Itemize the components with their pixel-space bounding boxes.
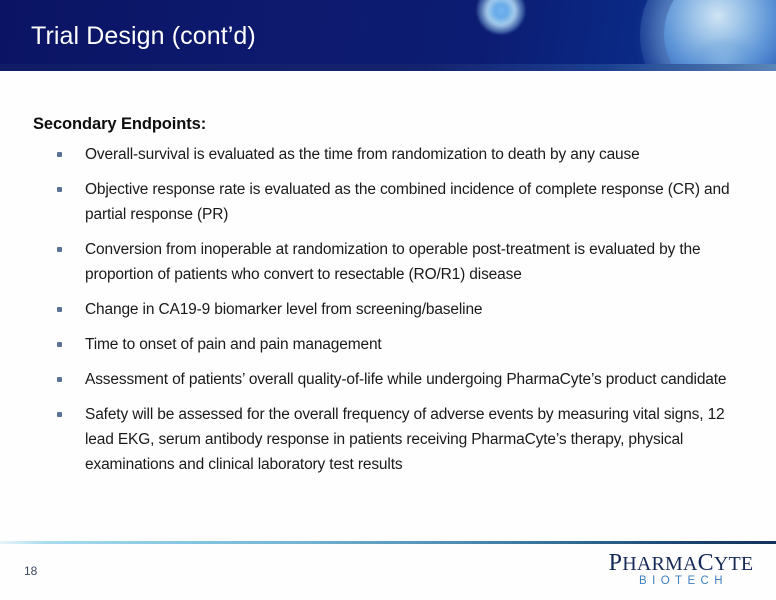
bullet-dot-icon	[57, 187, 62, 192]
list-item-text: Objective response rate is evaluated as …	[85, 181, 729, 223]
section-heading: Secondary Endpoints:	[33, 115, 206, 134]
logo-text-harma: HARMA	[622, 553, 697, 575]
secondary-endpoints-list: Overall-survival is evaluated as the tim…	[33, 142, 755, 477]
list-item: Time to onset of pain and pain managemen…	[33, 332, 755, 357]
logo-wordmark: PHARMACYTE	[606, 553, 756, 575]
page-number: 18	[24, 564, 37, 578]
logo-text-yte: YTE	[714, 553, 753, 575]
list-item: Change in CA19-9 biomarker level from sc…	[33, 297, 755, 322]
list-item-text: Conversion from inoperable at randomizat…	[85, 241, 700, 283]
list-item-text: Time to onset of pain and pain managemen…	[85, 336, 382, 353]
presentation-slide: Trial Design (cont’d) Secondary Endpoint…	[0, 0, 776, 600]
bullet-dot-icon	[57, 247, 62, 252]
list-item-text: Overall-survival is evaluated as the tim…	[85, 146, 640, 163]
slide-body: Secondary Endpoints: Overall-survival is…	[0, 71, 776, 531]
list-item-text: Change in CA19-9 biomarker level from sc…	[85, 301, 482, 318]
header-bottom-strip	[0, 64, 776, 71]
logo-letter-c: C	[698, 550, 714, 576]
list-item: Safety will be assessed for the overall …	[33, 402, 755, 477]
cell-sphere-small-icon	[477, 0, 525, 34]
list-item: Objective response rate is evaluated as …	[33, 177, 755, 227]
page-title: Trial Design (cont’d)	[31, 22, 256, 51]
list-item-text: Safety will be assessed for the overall …	[85, 406, 725, 473]
logo-tagline: BIOTECH	[606, 575, 756, 588]
bullet-dot-icon	[57, 307, 62, 312]
company-logo: PHARMACYTE BIOTECH	[606, 553, 756, 588]
bullet-dot-icon	[57, 152, 62, 157]
logo-letter-p: P	[609, 550, 623, 576]
list-item-text: Assessment of patients’ overall quality-…	[85, 371, 726, 388]
list-item: Conversion from inoperable at randomizat…	[33, 237, 755, 287]
bullet-dot-icon	[57, 342, 62, 347]
bullet-dot-icon	[57, 377, 62, 382]
footer-divider	[0, 541, 776, 544]
list-item: Assessment of patients’ overall quality-…	[33, 367, 755, 392]
list-item: Overall-survival is evaluated as the tim…	[33, 142, 755, 167]
bullet-dot-icon	[57, 412, 62, 417]
